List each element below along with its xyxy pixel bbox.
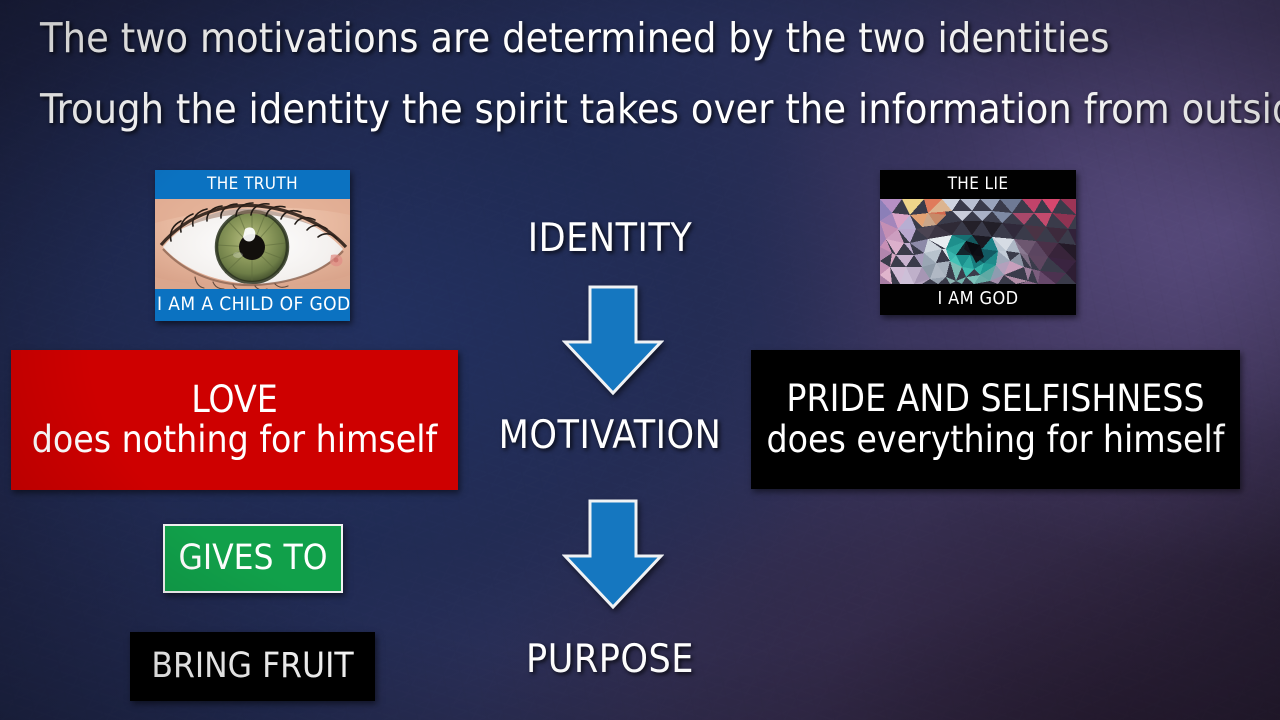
down-arrow-icon — [562, 284, 664, 396]
gives-to-box: GIVES TO — [163, 524, 343, 593]
low-poly-rainbow-eye-image — [880, 199, 1076, 284]
gives-to-box-label: GIVES TO — [178, 540, 327, 576]
bring-fruit-box-label: BRING FRUIT — [151, 648, 353, 684]
love-box-line-1: LOVE — [191, 381, 278, 419]
pride-box-line-1: PRIDE AND SELFISHNESS — [786, 380, 1204, 418]
truth-card-header: THE TRUTH — [155, 170, 350, 199]
truth-card-footer: I AM A CHILD OF GOD — [155, 289, 350, 321]
purpose-label: PURPOSE — [400, 637, 820, 682]
title-line-2: Trough the identity the spirit takes ove… — [40, 89, 1250, 130]
identity-label: IDENTITY — [400, 216, 820, 261]
slide-title-block: The two motivations are determined by th… — [40, 18, 1250, 130]
slide-canvas: The two motivations are determined by th… — [0, 0, 1280, 720]
pride-box-line-2: does everything for himself — [766, 421, 1224, 459]
realistic-green-eye-photo — [155, 199, 350, 289]
pride-box: PRIDE AND SELFISHNESS does everything fo… — [751, 350, 1240, 489]
love-box-line-2: does nothing for himself — [32, 421, 437, 459]
down-arrow-icon — [562, 498, 664, 610]
lie-eye-card: THE LIE — [880, 170, 1076, 315]
title-line-1: The two motivations are determined by th… — [40, 18, 1250, 59]
bring-fruit-box: BRING FRUIT — [130, 632, 375, 701]
truth-eye-card: THE TRUTH — [155, 170, 350, 321]
love-box: LOVE does nothing for himself — [11, 350, 458, 490]
lie-card-footer: I AM GOD — [880, 284, 1076, 315]
lie-card-header: THE LIE — [880, 170, 1076, 199]
